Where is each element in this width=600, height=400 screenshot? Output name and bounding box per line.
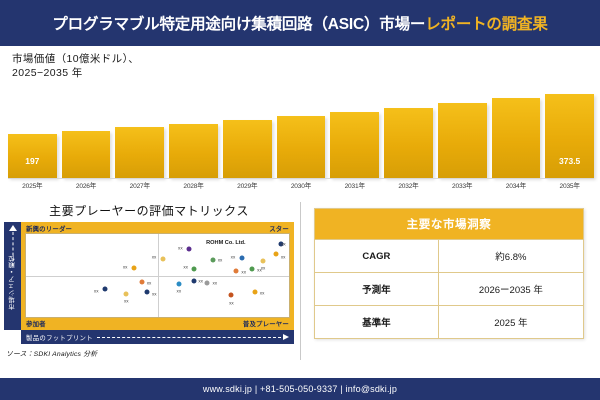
matrix-scatter-plot: xxxxxxxxxxxxxxxxxxxxxxxxxxxxxxxxxxxxxxxx… [25, 233, 290, 318]
chart-caption-line1: 市場価値（10億米ドル）、 [12, 52, 592, 66]
chart-bar [169, 124, 218, 178]
table-row: 予測年2026ー2035 年 [315, 273, 584, 306]
x-axis-tick-label: 2030年 [277, 180, 326, 190]
source-note: ソース：SDKI Analytics 分析 [6, 348, 294, 358]
page-title-accent: レポートの調査果 [425, 16, 547, 33]
table-header-row: 主要な市場洞察 [315, 209, 584, 240]
right-arrow-icon [283, 334, 289, 340]
bar-column [330, 88, 379, 178]
matrix-data-point [239, 256, 244, 261]
matrix-point-label: xx [152, 254, 157, 259]
table-row: CAGR約6.8% [315, 240, 584, 273]
matrix-point-label: xx [94, 288, 99, 293]
matrix-point-label: xx [231, 255, 236, 260]
bar-column [438, 88, 487, 178]
matrix-y-axis-label: 市場シェア・順位 [8, 255, 17, 310]
matrix-title: 主要プレーヤーの評価マトリックス [4, 202, 294, 219]
matrix-point-label: xx [123, 265, 128, 270]
matrix-point-label: xx [147, 281, 152, 286]
table-body: CAGR約6.8%予測年2026ー2035 年基準年2025 年 [315, 240, 584, 339]
infographic-page: プログラマブル特定用途向け集積回路（ASIC）市場ーレポートの調査果 市場価値（… [0, 0, 600, 400]
x-axis-tick-label: 2028年 [169, 180, 218, 190]
bar-column [277, 88, 326, 178]
chart-bar [438, 103, 487, 178]
bar-column [492, 88, 541, 178]
matrix-x-axis: 製品のフットプリント [21, 330, 294, 344]
insight-value: 約6.8% [438, 240, 583, 273]
matrix-point-label: xx [183, 264, 188, 269]
x-axis-tick-label: 2034年 [492, 180, 541, 190]
matrix-data-point [144, 290, 149, 295]
insight-label: 基準年 [315, 306, 439, 339]
key-insights-table: 主要な市場洞察 CAGR約6.8%予測年2026ー2035 年基準年2025 年 [314, 208, 584, 339]
matrix-point-label: xx [198, 279, 203, 284]
matrix-point-label: xx [281, 254, 286, 259]
header-bar: プログラマブル特定用途向け集積回路（ASIC）市場ーレポートの調査果 [0, 0, 600, 46]
footer-bar: www.sdki.jp | +81-505-050-9337 | info@sd… [0, 378, 600, 400]
matrix-point-label: xx [218, 257, 223, 262]
player-matrix-panel: 主要プレーヤーの評価マトリックス 市場シェア・順位 新興のリーダー スター 参加… [0, 198, 300, 378]
x-axis-tick-label: 2035年 [545, 180, 594, 190]
insight-label: 予測年 [315, 273, 439, 306]
insights-title: 主要な市場洞察 [315, 209, 584, 240]
matrix-point-label: xx [260, 291, 265, 296]
matrix-point-label: xx [177, 288, 182, 293]
table-row: 基準年2025 年 [315, 306, 584, 339]
matrix-point-label: xx [229, 301, 234, 306]
matrix-box: 市場シェア・順位 新興のリーダー スター 参加者 普及プレーヤー xxxxxxx… [4, 222, 294, 330]
matrix-data-point [192, 266, 197, 271]
table-header: 主要な市場洞察 [315, 209, 584, 240]
matrix-data-point [260, 259, 265, 264]
matrix-point-label: xx [178, 245, 183, 250]
chart-axis-line [8, 178, 594, 179]
chart-bar [223, 120, 272, 178]
x-axis-tick-label: 2029年 [223, 180, 272, 190]
chart-bar [330, 112, 379, 178]
x-axis-tick-label: 2025年 [8, 180, 57, 190]
matrix-data-point [192, 279, 197, 284]
bar-column [223, 88, 272, 178]
bar-column [384, 88, 433, 178]
x-axis-tick-label: 2027年 [115, 180, 164, 190]
lower-content: 主要プレーヤーの評価マトリックス 市場シェア・順位 新興のリーダー スター 参加… [0, 198, 600, 378]
quadrant-label-participants: 参加者 [26, 319, 46, 328]
insight-value: 2025 年 [438, 306, 583, 339]
bar-column [169, 88, 218, 178]
matrix-point-label: xx [281, 241, 286, 246]
chart-plot-area: 197373.5 [8, 88, 594, 178]
bar-value-label: 197 [8, 156, 57, 166]
matrix-named-player-label: ROHM Co. Ltd. [206, 240, 245, 246]
insight-value: 2026ー2035 年 [438, 273, 583, 306]
bar-column: 197 [8, 88, 57, 178]
chart-bar [492, 98, 541, 178]
matrix-data-point [250, 266, 255, 271]
x-axis-tick-label: 2031年 [330, 180, 379, 190]
matrix-data-point [252, 290, 257, 295]
matrix-data-point [205, 280, 210, 285]
page-title-main: プログラマブル特定用途向け集積回路（ASIC）市場ー [52, 16, 425, 33]
matrix-y-axis: 市場シェア・順位 [4, 222, 21, 330]
x-axis-tick-label: 2032年 [384, 180, 433, 190]
matrix-point-label: xx [124, 298, 129, 303]
bar-column [115, 88, 164, 178]
matrix-data-point [210, 257, 215, 262]
matrix-data-point [187, 246, 192, 251]
insight-label: CAGR [315, 240, 439, 273]
bar-column [62, 88, 111, 178]
matrix-data-point [123, 291, 128, 296]
scatter-horizontal-midline [26, 276, 289, 277]
chart-x-axis-labels: 2025年2026年2027年2028年2029年2030年2031年2032年… [8, 180, 594, 190]
chart-bar: 373.5 [545, 94, 594, 178]
matrix-point-label: xx [257, 267, 262, 272]
vertical-divider [300, 202, 301, 360]
quadrant-label-pervasive: 普及プレーヤー [243, 319, 289, 328]
bar-column: 373.5 [545, 88, 594, 178]
matrix-data-point [160, 256, 165, 261]
chart-caption: 市場価値（10億米ドル）、 2025−2035 年 [12, 52, 592, 80]
page-title: プログラマブル特定用途向け集積回路（ASIC）市場ーレポートの調査果 [52, 12, 547, 34]
chart-bar [384, 108, 433, 178]
quadrant-label-stars: スター [269, 224, 289, 233]
matrix-data-point [234, 268, 239, 273]
matrix-data-point [273, 251, 278, 256]
chart-bar: 197 [8, 134, 57, 178]
footer-contact-text: www.sdki.jp | +81-505-050-9337 | info@sd… [203, 384, 397, 394]
matrix-data-point [229, 293, 234, 298]
chart-caption-line2: 2025−2035 年 [12, 66, 592, 80]
key-insights-panel: 主要な市場洞察 CAGR約6.8%予測年2026ー2035 年基準年2025 年 [300, 198, 600, 378]
up-arrow-icon [9, 225, 17, 231]
matrix-data-point [102, 286, 107, 291]
matrix-quadrant-frame: 新興のリーダー スター 参加者 普及プレーヤー xxxxxxxxxxxxxxxx… [21, 222, 294, 330]
chart-bar [62, 131, 111, 178]
quadrant-label-emerging-leaders: 新興のリーダー [26, 224, 72, 233]
bar-chart-section: 市場価値（10億米ドル）、 2025−2035 年 197373.5 2025年… [0, 46, 600, 198]
matrix-data-point [131, 266, 136, 271]
chart-bar [277, 116, 326, 178]
x-axis-tick-label: 2026年 [62, 180, 111, 190]
matrix-point-label: xx [212, 280, 217, 285]
x-axis-dashed-line [97, 337, 281, 338]
matrix-data-point [176, 281, 181, 286]
bar-value-label: 373.5 [545, 156, 594, 166]
x-axis-tick-label: 2033年 [438, 180, 487, 190]
matrix-point-label: xx [241, 269, 246, 274]
matrix-data-point [139, 280, 144, 285]
chart-bar [115, 127, 164, 178]
matrix-point-label: xx [152, 292, 157, 297]
matrix-x-axis-label: 製品のフットプリント [26, 333, 93, 342]
